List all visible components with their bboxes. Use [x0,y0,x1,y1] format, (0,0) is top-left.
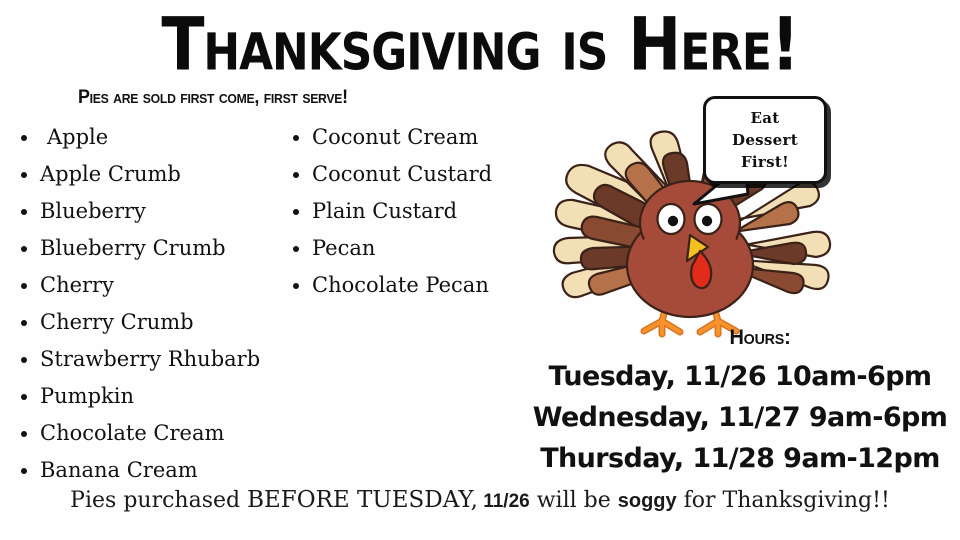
list-item: Blueberry Crumb [14,230,314,267]
speech-bubble: Eat Dessert First! [703,96,827,184]
list-item: Pumpkin [14,378,314,415]
speech-bubble-line-2: Dessert [732,129,798,151]
flyer-page: Thanksgiving is Here! Pies are sold firs… [0,0,960,540]
list-item: Cherry Crumb [14,304,314,341]
list-item: Apple [14,119,314,156]
footer-part-4: will be [530,488,618,513]
footer-note: Pies purchased BEFORE TUESDAY, 11/26 wil… [0,487,960,513]
speech-bubble-line-3: First! [741,151,789,173]
list-item: Pecan [286,230,576,267]
list-item: Chocolate Cream [14,415,314,452]
list-item: Chocolate Pecan [286,267,576,304]
hours-entry-thursday: Thursday, 11/28 9am-12pm [520,438,960,479]
pie-list-left: Apple Apple Crumb Blueberry Blueberry Cr… [14,119,314,489]
subtitle-text: Pies are sold first come, first serve! [78,88,348,108]
speech-bubble-line-1: Eat [751,107,780,129]
footer-part-5: soggy [618,490,677,512]
hours-heading: Hours: [589,326,931,350]
list-item: Blueberry [14,193,314,230]
list-item: Coconut Cream [286,119,576,156]
pie-list-right: Coconut Cream Coconut Custard Plain Cust… [286,119,576,304]
footer-part-3: 11/26 [478,491,530,512]
list-item: Plain Custard [286,193,576,230]
footer-part-1: Pies purchased [70,488,247,513]
hours-entry-tuesday: Tuesday, 11/26 10am-6pm [520,356,960,397]
footer-part-2: BEFORE TUESDAY, [247,487,478,513]
page-title: Thanksgiving is Here! [0,8,960,81]
hours-list: Tuesday, 11/26 10am-6pm Wednesday, 11/27… [520,356,960,479]
list-item: Cherry [14,267,314,304]
footer-part-6: for Thanksgiving!! [677,488,890,513]
list-item: Strawberry Rhubarb [14,341,314,378]
hours-entry-wednesday: Wednesday, 11/27 9am-6pm [520,397,960,438]
list-item: Apple Crumb [14,156,314,193]
list-item: Coconut Custard [286,156,576,193]
list-item: Banana Cream [14,452,314,489]
